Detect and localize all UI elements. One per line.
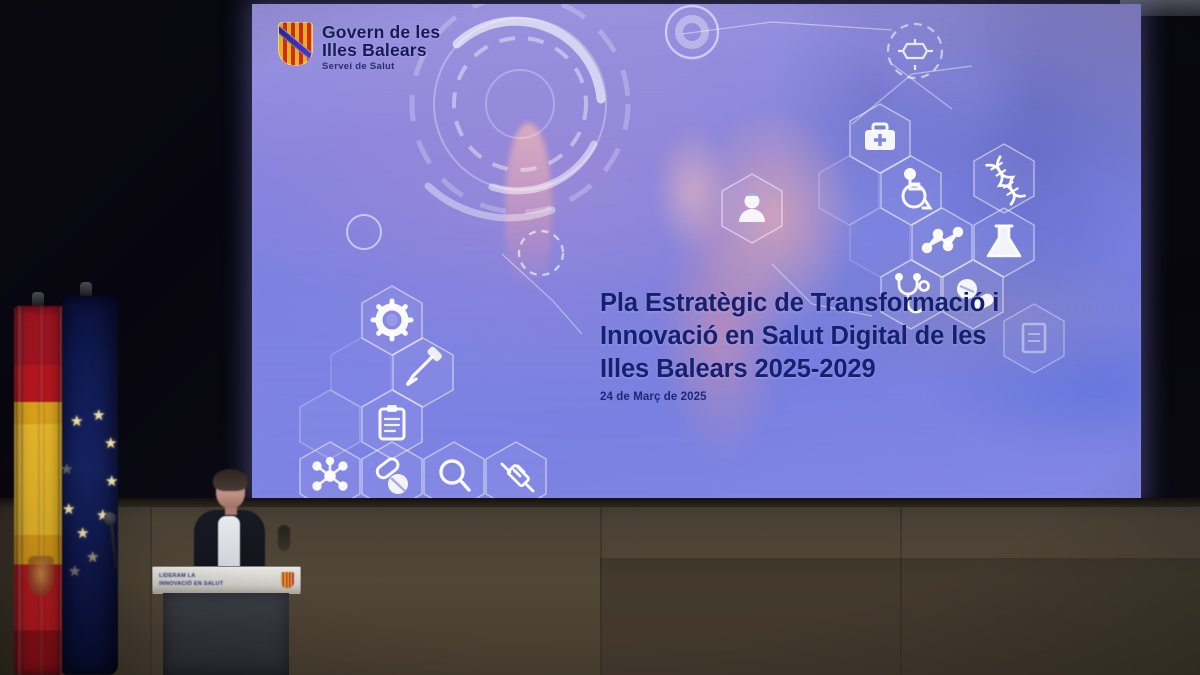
balearic-coat-of-arms-icon <box>278 22 313 66</box>
wall-top-edge <box>0 498 1200 507</box>
slide-date: 24 de Març de 2025 <box>600 391 1100 403</box>
hud-rings-graphic <box>412 4 628 218</box>
lectern-sign-line-1: LIDERAM LA <box>159 572 277 580</box>
slide-title-block: Pla Estratègic de Transformació i Innova… <box>600 287 1100 403</box>
lectern-sign-crest-icon <box>281 572 294 588</box>
slide-title-line-3: Illes Balears 2025-2029 <box>600 353 1100 386</box>
lectern-body <box>163 593 289 675</box>
european-union-flag: ★ ★ ★ ★ ★ ★ ★ ★ ★ ★ <box>62 296 118 675</box>
govern-illes-balears-logo: Govern de les Illes Balears Servei de Sa… <box>278 22 440 72</box>
projection-screen: Govern de les Illes Balears Servei de Sa… <box>252 4 1141 498</box>
logo-subtitle: Servei de Salut <box>322 62 440 72</box>
microphone-head <box>104 512 116 525</box>
slide-title-line-1: Pla Estratègic de Transformació i <box>600 287 1100 320</box>
lectern-sign: LIDERAM LA INNOVACIÓ EN SALUT <box>152 566 301 594</box>
logo-line-2: Illes Balears <box>322 41 440 59</box>
presentation-photo-scene: Govern de les Illes Balears Servei de Sa… <box>0 0 1200 675</box>
slide-vector-graphics <box>252 4 1141 498</box>
logo-line-1: Govern de les <box>322 23 440 41</box>
spain-coat-of-arms <box>28 556 54 596</box>
lectern-sign-line-2: INNOVACIÓ EN SALUT <box>159 580 277 588</box>
lectern: LIDERAM LA INNOVACIÓ EN SALUT <box>152 566 301 675</box>
auditorium-wall-right <box>1141 0 1200 500</box>
presenter-person <box>192 472 266 568</box>
gear-icon <box>373 301 411 339</box>
slide-title-line-2: Innovació en Salut Digital de les <box>600 320 1100 353</box>
wall-mounted-speaker <box>278 525 290 551</box>
hexagon-icon-cluster-left <box>300 286 546 498</box>
spain-flag <box>14 306 68 675</box>
